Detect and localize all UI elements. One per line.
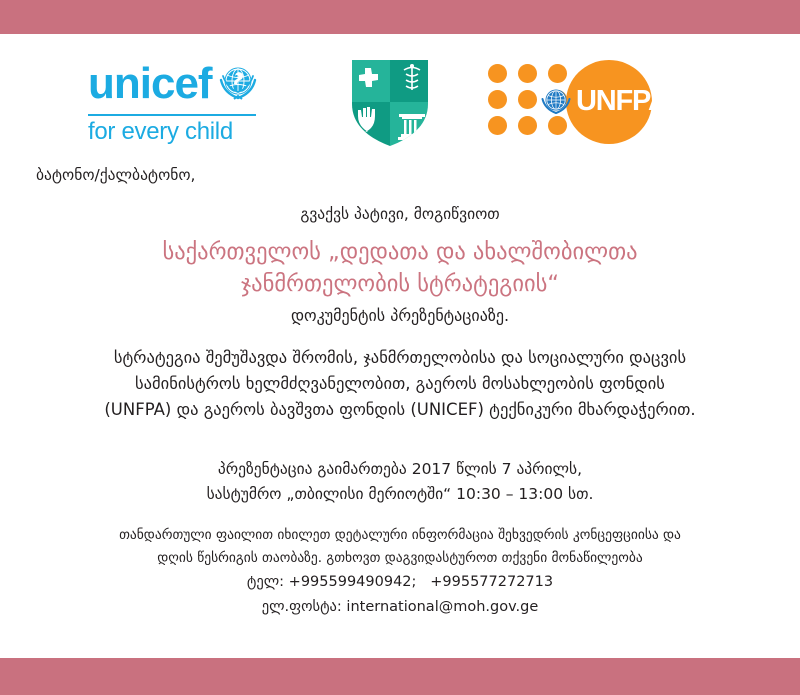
email-address[interactable]: international@moh.gov.ge xyxy=(346,599,538,615)
greeting-line: ბატონო/ქალბატონო, xyxy=(36,166,195,184)
unicef-globe-emblem xyxy=(216,60,260,108)
footer-block: თანდართული ფაილით იხილეთ დეტალური ინფორმ… xyxy=(40,524,760,619)
unicef-wordmark: unicef xyxy=(88,62,212,106)
top-accent-band xyxy=(0,0,800,34)
footer-line-2: დღის წესრიგის თაობაზე. გთხოვთ დაგვიდასტუ… xyxy=(40,547,760,570)
page-title: საქართველოს „დედათა და ახალშობილთა ჯანმრ… xyxy=(60,237,740,301)
unfpa-logo: UNFPA xyxy=(480,58,800,146)
footer-line-1: თანდართული ფაილით იხილეთ დეტალური ინფორმ… xyxy=(40,524,760,547)
description-paragraph: სტრატეგია შემუშავდა შრომის, ჯანმრთელობის… xyxy=(40,345,760,423)
description-line-3: (UNFPA) და გაეროს ბავშვთა ფონდის (UNICEF… xyxy=(40,397,760,423)
unicef-divider-rule xyxy=(88,114,256,116)
event-date-line: პრეზენტაცია გაიმართება 2017 წლის 7 აპრილ… xyxy=(0,457,800,482)
moh-georgia-shield xyxy=(300,54,480,150)
unicef-logo: unicef xyxy=(0,60,300,144)
bottom-accent-band xyxy=(0,658,800,695)
phone-label: ტელ: xyxy=(247,574,284,590)
un-globe-emblem xyxy=(540,85,572,117)
invitation-intro-line: გვაქვს პატივი, მოგიწვიოთ xyxy=(0,205,800,223)
contact-email-row: ელ.ფოსტა: international@moh.gov.ge xyxy=(40,595,760,620)
phone-number-primary: +995599490942; xyxy=(289,574,417,590)
event-details: პრეზენტაცია გაიმართება 2017 წლის 7 აპრილ… xyxy=(0,457,800,507)
unicef-tagline: for every child xyxy=(88,120,260,144)
description-line-2: სამინისტროს ხელმძღვანელობით, გაეროს მოსა… xyxy=(40,371,760,397)
shield-quadrant-column xyxy=(390,102,434,150)
invitation-card: unicef xyxy=(0,0,800,695)
event-venue-time-line: სასტუმრო „თბილისი მერიოტში“ 10:30 – 13:0… xyxy=(0,482,800,507)
phone-number-secondary: +995577272713 xyxy=(430,574,553,590)
document-subject-line: დოკუმენტის პრეზენტაციაზე. xyxy=(0,306,800,325)
contact-phone-row: ტელ: +995599490942; +995577272713 xyxy=(40,570,760,595)
page-title-line-2: ჯანმრთელობის სტრატეგიის“ xyxy=(60,269,740,301)
unfpa-wordmark: UNFPA xyxy=(576,87,668,116)
description-line-1: სტრატეგია შემუშავდა შრომის, ჯანმრთელობის… xyxy=(40,345,760,371)
email-label: ელ.ფოსტა: xyxy=(262,599,342,615)
logo-row: unicef xyxy=(0,52,800,152)
page-title-line-1: საქართველოს „დედათა და ახალშობილთა xyxy=(60,237,740,269)
